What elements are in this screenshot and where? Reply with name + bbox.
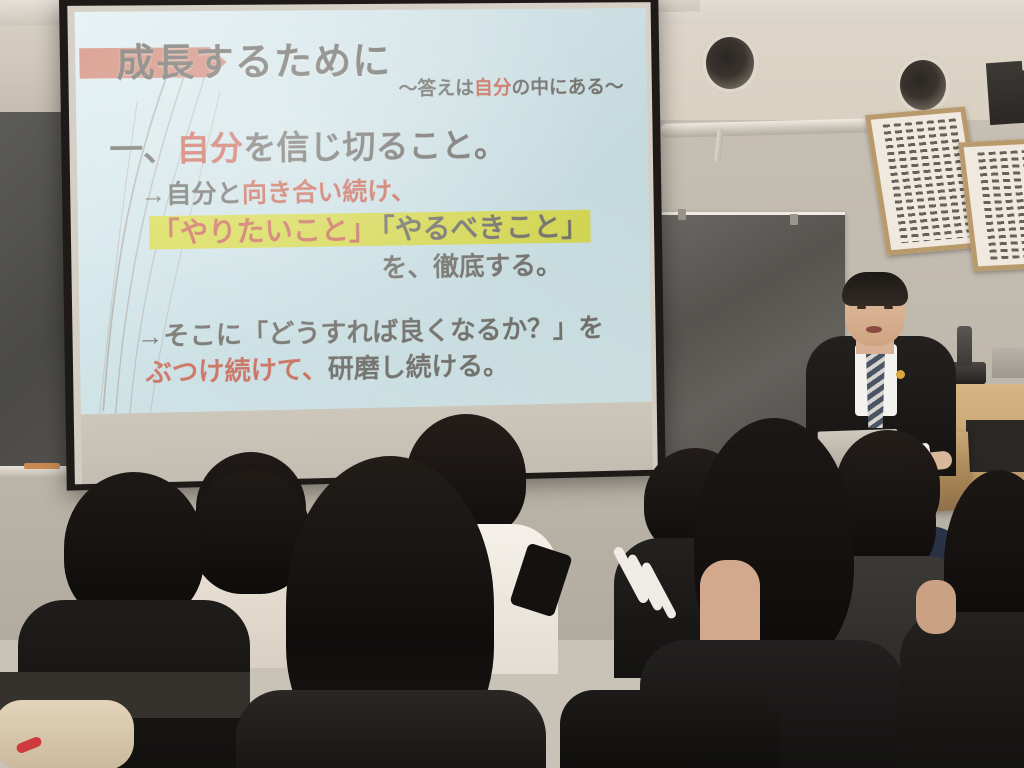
slide-line-2: →自分と向き合い続け、: [140, 171, 416, 211]
slide-line-6: ぶつけ続けて、研磨し続ける。: [145, 345, 509, 390]
seg: →そこに「どうすれば良くなるか？」を: [137, 313, 604, 352]
board-clip: [678, 209, 686, 220]
av-device: [992, 348, 1024, 378]
seg: を、徹底する。: [381, 250, 562, 283]
plush-bag: [0, 700, 134, 768]
student-ear-neck: [916, 580, 956, 634]
microphone-icon: [957, 326, 972, 366]
slide-line-1: 一、自分を信じ切ること。: [109, 118, 507, 171]
seg-accent: ぶつけ続けて、: [145, 354, 328, 388]
wall-vent-icon: [706, 37, 754, 89]
slide-subtitle: ～答えは自分の中にある～: [398, 72, 623, 101]
classroom-photo: 成長するために ～答えは自分の中にある～ 一、自分を信じ切ること。 →自分と向き…: [0, 0, 1024, 768]
slide-line-5: →そこに「どうすれば良くなるか？」を: [136, 308, 604, 354]
screen-surface: 成長するために ～答えは自分の中にある～ 一、自分を信じ切ること。 →自分と向き…: [67, 2, 658, 484]
cabinet-shelf: [966, 420, 1024, 472]
seg-accent: 向き合い続け、: [242, 177, 416, 207]
lapel-pin-icon: [896, 370, 905, 379]
student-torso: [900, 612, 1024, 768]
calligraphy-text: [970, 150, 1024, 260]
subtitle-pre: ～答えは: [398, 78, 474, 100]
seg-highlight-gray: 「やるべきこと」: [379, 210, 591, 246]
speaker-eye: [857, 306, 866, 309]
seg: →自分と: [140, 180, 242, 210]
speaker-eye: [884, 306, 893, 309]
seg-highlight-red: 「やりたいこと」: [149, 213, 379, 250]
calligraphy-text: [878, 118, 975, 243]
ceiling-speaker: [986, 61, 1024, 125]
speaker-mouth: [866, 326, 882, 333]
chalk-eraser: [24, 463, 60, 469]
slide-line-4: を、徹底する。: [381, 245, 562, 285]
subtitle-accent: 自分: [474, 78, 512, 99]
seg: 一、: [109, 130, 177, 168]
speaker-hair: [842, 272, 908, 306]
projection-screen: 成長するために ～答えは自分の中にある～ 一、自分を信じ切ること。 →自分と向き…: [59, 0, 666, 491]
subtitle-post: の中にある～: [511, 77, 623, 99]
speaker-necktie: [866, 352, 885, 428]
slide-title: 成長するために: [116, 30, 392, 88]
seg: を信じ切ること。: [243, 126, 507, 166]
student-torso: [560, 690, 780, 768]
seg: 研磨し続ける。: [327, 350, 508, 384]
student-torso: [236, 690, 546, 768]
wall-vent-icon: [900, 60, 946, 110]
presentation-slide: 成長するために ～答えは自分の中にある～ 一、自分を信じ切ること。 →自分と向き…: [75, 8, 652, 414]
seg-accent: 自分: [176, 129, 243, 167]
board-clip: [790, 214, 798, 225]
